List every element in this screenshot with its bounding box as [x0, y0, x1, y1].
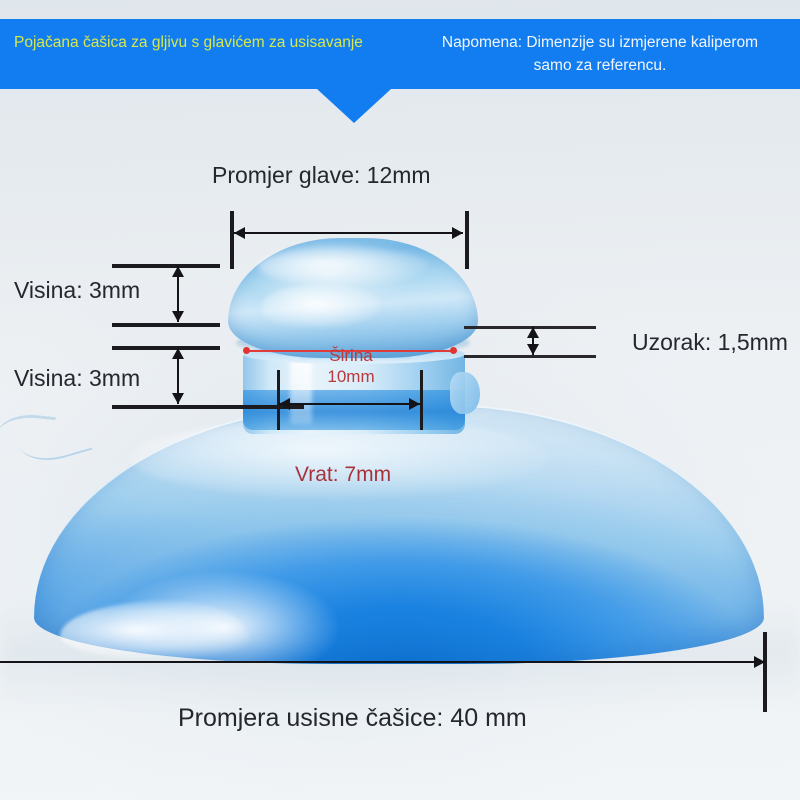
height-top-extline-upper — [112, 264, 220, 268]
width-endpoint-right — [450, 347, 457, 354]
arrowhead-bottom — [172, 311, 184, 322]
width-endpoint-left — [243, 347, 250, 354]
pattern-label: Uzorak: 1,5mm — [632, 328, 788, 356]
neck-width-arrow — [279, 398, 420, 410]
arrow-shaft — [279, 403, 420, 405]
cup-diameter-label: Promjera usisne čašice: 40 mm — [178, 703, 527, 733]
height-bottom-arrow — [172, 348, 184, 404]
banner-note: Napomena: Dimenzije su izmjerene kaliper… — [408, 31, 792, 77]
height-bottom-label: Visina: 3mm — [14, 364, 140, 392]
arrow-shaft — [234, 232, 463, 234]
arrowhead-left — [279, 398, 290, 410]
head-diameter-arrow — [234, 227, 463, 239]
banner-title: Pojačana čašica za gljivu s glavićem za … — [14, 33, 404, 53]
width-label-line2: 10mm — [296, 366, 406, 387]
arrowhead-top — [527, 327, 539, 338]
arrow-shaft — [0, 661, 765, 663]
arrowhead-top — [172, 348, 184, 359]
head-highlight-top — [258, 246, 428, 286]
neck-label: Vrat: 7mm — [295, 462, 391, 487]
height-bottom-extline-lower — [112, 405, 304, 409]
head-diameter-tick-left — [230, 211, 234, 269]
arrowhead-bottom — [172, 393, 184, 404]
neck-side-bump — [450, 372, 480, 414]
banner-pointer-triangle — [317, 89, 391, 123]
arrowhead-right — [452, 227, 463, 239]
pattern-extline-lower — [464, 355, 596, 358]
product-dimension-infographic: Promjer glave: 12mm Visina: 3mm Visina: … — [0, 0, 800, 800]
width-label-line1: Širina — [296, 345, 406, 366]
arrowhead-bottom — [527, 344, 539, 355]
head-diameter-label: Promjer glave: 12mm — [212, 161, 431, 189]
head-diameter-tick-right — [465, 211, 469, 269]
cup-diameter-arrow — [0, 656, 765, 668]
banner-note-line2: samo za referencu. — [408, 54, 792, 77]
height-top-extline-lower — [112, 323, 220, 327]
height-bottom-extline-upper — [112, 346, 220, 350]
neck-tick-right — [420, 370, 423, 430]
arrowhead-left — [234, 227, 245, 239]
cup-diameter-tick-right — [763, 632, 767, 712]
arrowhead-top — [172, 266, 184, 277]
height-top-arrow — [172, 266, 184, 322]
height-top-label: Visina: 3mm — [14, 276, 140, 304]
banner-note-line1: Napomena: Dimenzije su izmjerene kaliper… — [408, 31, 792, 54]
pattern-arrow — [527, 327, 539, 355]
arrowhead-right — [409, 398, 420, 410]
arrowhead-right — [754, 656, 765, 668]
